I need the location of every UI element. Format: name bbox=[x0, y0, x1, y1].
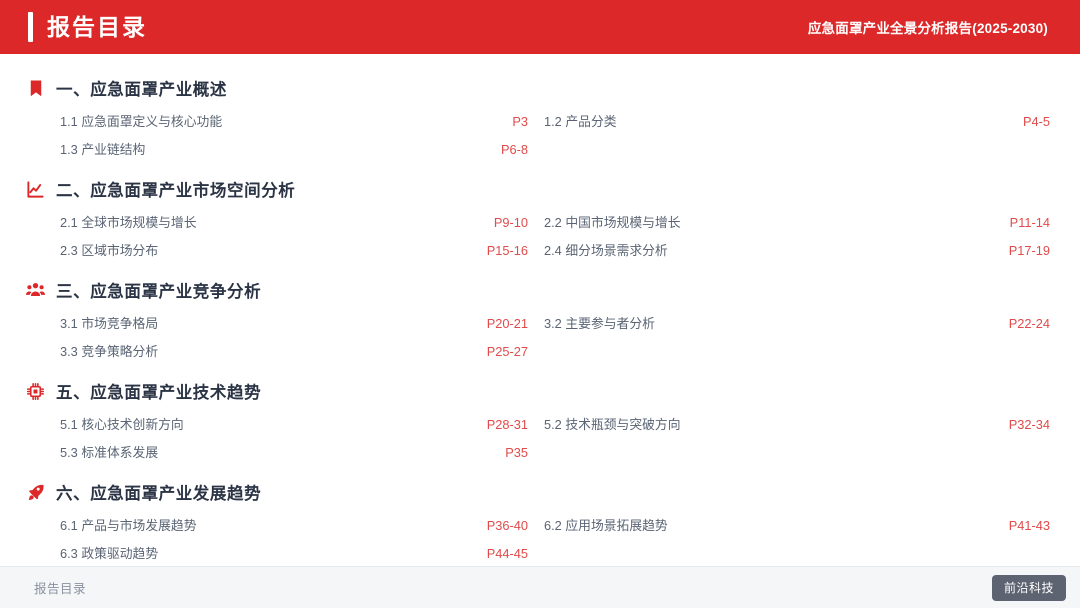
toc-entry-label: 2.3 区域市场分布 bbox=[22, 240, 158, 259]
bookmark-icon bbox=[26, 79, 45, 98]
toc-entry-label: 2.1 全球市场规模与增长 bbox=[22, 212, 197, 231]
toc-entry-label: 1.3 产业链结构 bbox=[22, 139, 145, 158]
toc-entry[interactable]: 1.3 产业链结构 P6-8 bbox=[22, 137, 536, 160]
toc-entry-page: P9-10 bbox=[494, 215, 536, 230]
header-accent-bar bbox=[28, 12, 33, 42]
section-title-6: 六、应急面罩产业发展趋势 bbox=[56, 480, 261, 504]
microchip-icon bbox=[26, 382, 45, 401]
toc-entry-page: P36-40 bbox=[487, 518, 536, 533]
toc-entry-label: 6.2 应用场景拓展趋势 bbox=[536, 515, 668, 534]
toc-entry[interactable]: 5.3 标准体系发展 P35 bbox=[22, 440, 536, 463]
toc-body: 一、应急面罩产业概述 1.1 应急面罩定义与核心功能 P3 1.2 产品分类 P… bbox=[0, 54, 1080, 574]
toc-entry[interactable]: 2.3 区域市场分布 P15-16 bbox=[22, 238, 536, 261]
toc-entry-label: 6.3 政策驱动趋势 bbox=[22, 543, 158, 562]
toc-entry-page: P28-31 bbox=[487, 417, 536, 432]
toc-entry[interactable]: 6.2 应用场景拓展趋势 P41-43 bbox=[536, 513, 1050, 536]
toc-section-5: 五、应急面罩产业技术趋势 5.1 核心技术创新方向 P28-31 5.2 技术瓶… bbox=[22, 379, 1050, 463]
toc-entry-label: 6.1 产品与市场发展趋势 bbox=[22, 515, 197, 534]
toc-section-2: 二、应急面罩产业市场空间分析 2.1 全球市场规模与增长 P9-10 2.2 中… bbox=[22, 177, 1050, 261]
section-header-6: 六、应急面罩产业发展趋势 bbox=[22, 480, 1050, 504]
toc-entry[interactable]: 1.1 应急面罩定义与核心功能 P3 bbox=[22, 109, 536, 132]
toc-entry-page: P25-27 bbox=[487, 344, 536, 359]
toc-entry-page: P22-24 bbox=[1009, 316, 1050, 331]
section-title-3: 三、应急面罩产业竞争分析 bbox=[56, 278, 261, 302]
page-header: 报告目录 应急面罩产业全景分析报告(2025-2030) bbox=[0, 0, 1080, 54]
toc-entry-label: 5.1 核心技术创新方向 bbox=[22, 414, 184, 433]
toc-entry-label: 1.1 应急面罩定义与核心功能 bbox=[22, 111, 222, 130]
toc-entry[interactable]: 6.1 产品与市场发展趋势 P36-40 bbox=[22, 513, 536, 536]
toc-entry-page: P41-43 bbox=[1009, 518, 1050, 533]
toc-entry-page: P3 bbox=[512, 114, 536, 129]
section-header-3: 三、应急面罩产业竞争分析 bbox=[22, 278, 1050, 302]
toc-section-1: 一、应急面罩产业概述 1.1 应急面罩定义与核心功能 P3 1.2 产品分类 P… bbox=[22, 76, 1050, 160]
section-items-1: 1.1 应急面罩定义与核心功能 P3 1.2 产品分类 P4-5 1.3 产业链… bbox=[22, 109, 1050, 160]
toc-entry-page: P11-14 bbox=[1010, 215, 1050, 230]
chart-line-icon bbox=[26, 180, 45, 199]
section-title-2: 二、应急面罩产业市场空间分析 bbox=[56, 177, 295, 201]
toc-entry[interactable]: 2.4 细分场景需求分析 P17-19 bbox=[536, 238, 1050, 261]
toc-entry-page: P35 bbox=[505, 445, 536, 460]
footer-label: 报告目录 bbox=[34, 578, 86, 597]
users-group-icon bbox=[26, 281, 45, 300]
toc-entry[interactable]: 3.3 竞争策略分析 P25-27 bbox=[22, 339, 536, 362]
toc-section-3: 三、应急面罩产业竞争分析 3.1 市场竞争格局 P20-21 3.2 主要参与者… bbox=[22, 278, 1050, 362]
toc-entry-label: 1.2 产品分类 bbox=[536, 111, 617, 130]
toc-entry[interactable]: 2.2 中国市场规模与增长 P11-14 bbox=[536, 210, 1050, 233]
rocket-icon bbox=[26, 483, 45, 502]
toc-entry-label: 5.3 标准体系发展 bbox=[22, 442, 158, 461]
toc-entry[interactable]: 1.2 产品分类 P4-5 bbox=[536, 109, 1050, 132]
toc-entry[interactable]: 6.3 政策驱动趋势 P44-45 bbox=[22, 541, 536, 564]
toc-entry[interactable]: 3.1 市场竞争格局 P20-21 bbox=[22, 311, 536, 334]
section-header-2: 二、应急面罩产业市场空间分析 bbox=[22, 177, 1050, 201]
footer-page-number-group: 2 前沿科技 bbox=[1039, 581, 1052, 595]
toc-entry[interactable]: 5.1 核心技术创新方向 P28-31 bbox=[22, 412, 536, 435]
section-header-5: 五、应急面罩产业技术趋势 bbox=[22, 379, 1050, 403]
toc-entry-label: 2.4 细分场景需求分析 bbox=[536, 240, 668, 259]
section-title-5: 五、应急面罩产业技术趋势 bbox=[56, 379, 261, 403]
toc-entry[interactable]: 3.2 主要参与者分析 P22-24 bbox=[536, 311, 1050, 334]
toc-entry[interactable]: 5.2 技术瓶颈与突破方向 P32-34 bbox=[536, 412, 1050, 435]
page-title: 报告目录 bbox=[47, 16, 147, 39]
section-title-1: 一、应急面罩产业概述 bbox=[56, 76, 227, 100]
report-subtitle: 应急面罩产业全景分析报告(2025-2030) bbox=[808, 17, 1048, 37]
header-left-group: 报告目录 bbox=[0, 0, 147, 54]
section-items-3: 3.1 市场竞争格局 P20-21 3.2 主要参与者分析 P22-24 3.3… bbox=[22, 311, 1050, 362]
section-header-1: 一、应急面罩产业概述 bbox=[22, 76, 1050, 100]
toc-entry-label: 2.2 中国市场规模与增长 bbox=[536, 212, 681, 231]
toc-entry-page: P32-34 bbox=[1009, 417, 1050, 432]
toc-entry-page: P20-21 bbox=[487, 316, 536, 331]
section-items-5: 5.1 核心技术创新方向 P28-31 5.2 技术瓶颈与突破方向 P32-34… bbox=[22, 412, 1050, 463]
toc-entry-label: 5.2 技术瓶颈与突破方向 bbox=[536, 414, 681, 433]
toc-entry-label: 3.1 市场竞争格局 bbox=[22, 313, 158, 332]
toc-entry-page: P44-45 bbox=[487, 546, 536, 561]
toc-section-6: 六、应急面罩产业发展趋势 6.1 产品与市场发展趋势 P36-40 6.2 应用… bbox=[22, 480, 1050, 564]
toc-entry-label: 3.2 主要参与者分析 bbox=[536, 313, 655, 332]
toc-entry[interactable]: 2.1 全球市场规模与增长 P9-10 bbox=[22, 210, 536, 233]
toc-entry-page: P15-16 bbox=[487, 243, 536, 258]
page-footer: 报告目录 2 前沿科技 bbox=[0, 566, 1080, 608]
toc-entry-label: 3.3 竞争策略分析 bbox=[22, 341, 158, 360]
toc-entry-page: P6-8 bbox=[501, 142, 536, 157]
brand-tooltip: 前沿科技 bbox=[992, 575, 1066, 601]
toc-entry-page: P17-19 bbox=[1009, 243, 1050, 258]
toc-entry-page: P4-5 bbox=[1023, 114, 1050, 129]
section-items-2: 2.1 全球市场规模与增长 P9-10 2.2 中国市场规模与增长 P11-14… bbox=[22, 210, 1050, 261]
section-items-6: 6.1 产品与市场发展趋势 P36-40 6.2 应用场景拓展趋势 P41-43… bbox=[22, 513, 1050, 564]
